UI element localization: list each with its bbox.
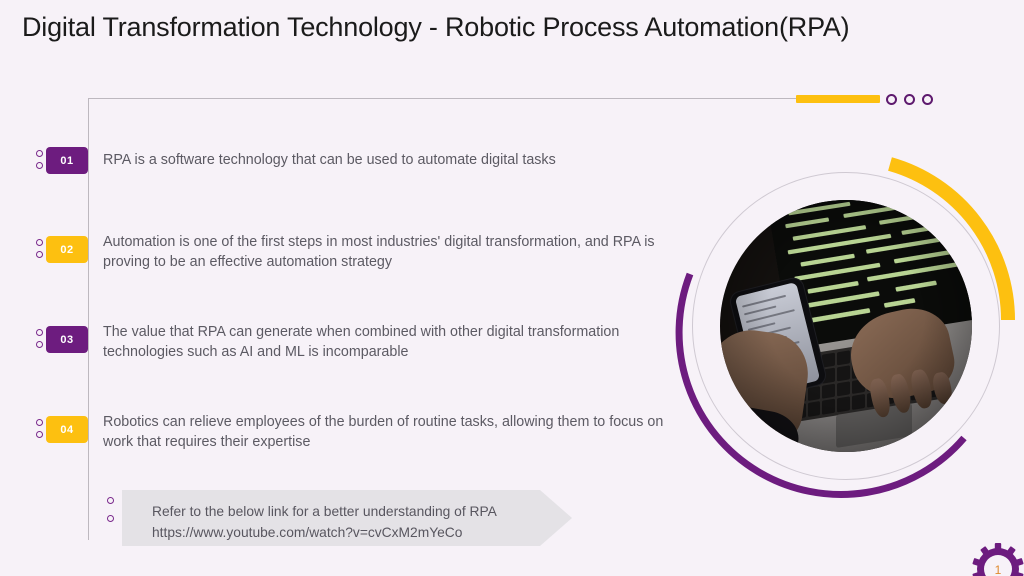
frame-left-line [88,98,89,540]
item-number-badge: 02 [46,236,88,263]
ring-dot-icon [107,497,114,504]
ring-dot-icon [886,94,897,105]
gear-logo: 1 [972,543,1024,576]
item-text: Automation is one of the first steps in … [103,232,688,272]
ring-dot-icon [36,251,43,258]
callout-line-1: Refer to the below link for a better und… [152,501,552,522]
item-marker-dots [33,419,45,438]
item-number-badge: 01 [46,147,88,174]
callout-link[interactable]: https://www.youtube.com/watch?v=cvCxM2mY… [152,522,552,543]
callout-marker-dots [104,497,116,522]
frame-top-line [88,98,818,99]
item-text: RPA is a software technology that can be… [103,150,688,170]
ring-dot-icon [36,341,43,348]
item-text: The value that RPA can generate when com… [103,322,688,362]
accent-bar [796,95,880,103]
page-title: Digital Transformation Technology - Robo… [22,12,849,43]
item-marker-dots [33,239,45,258]
ring-dot-icon [36,329,43,336]
ring-dot-icon [36,431,43,438]
image-composition [672,152,1020,500]
item-text: Robotics can relieve employees of the bu… [103,412,688,452]
item-number-badge: 04 [46,416,88,443]
item-marker-dots [33,329,45,348]
decor-dots [886,94,933,105]
callout-text: Refer to the below link for a better und… [152,501,552,543]
ring-dot-icon [36,162,43,169]
gear-logo-label: 1 [995,563,1002,576]
ring-dot-icon [904,94,915,105]
laptop-photo [720,200,972,452]
slide-canvas: Digital Transformation Technology - Robo… [0,0,1024,576]
ring-dot-icon [107,515,114,522]
item-number-badge: 03 [46,326,88,353]
ring-dot-icon [36,419,43,426]
ring-dot-icon [922,94,933,105]
ring-dot-icon [36,239,43,246]
item-marker-dots [33,150,45,169]
photo-vignette [720,200,972,452]
ring-dot-icon [36,150,43,157]
